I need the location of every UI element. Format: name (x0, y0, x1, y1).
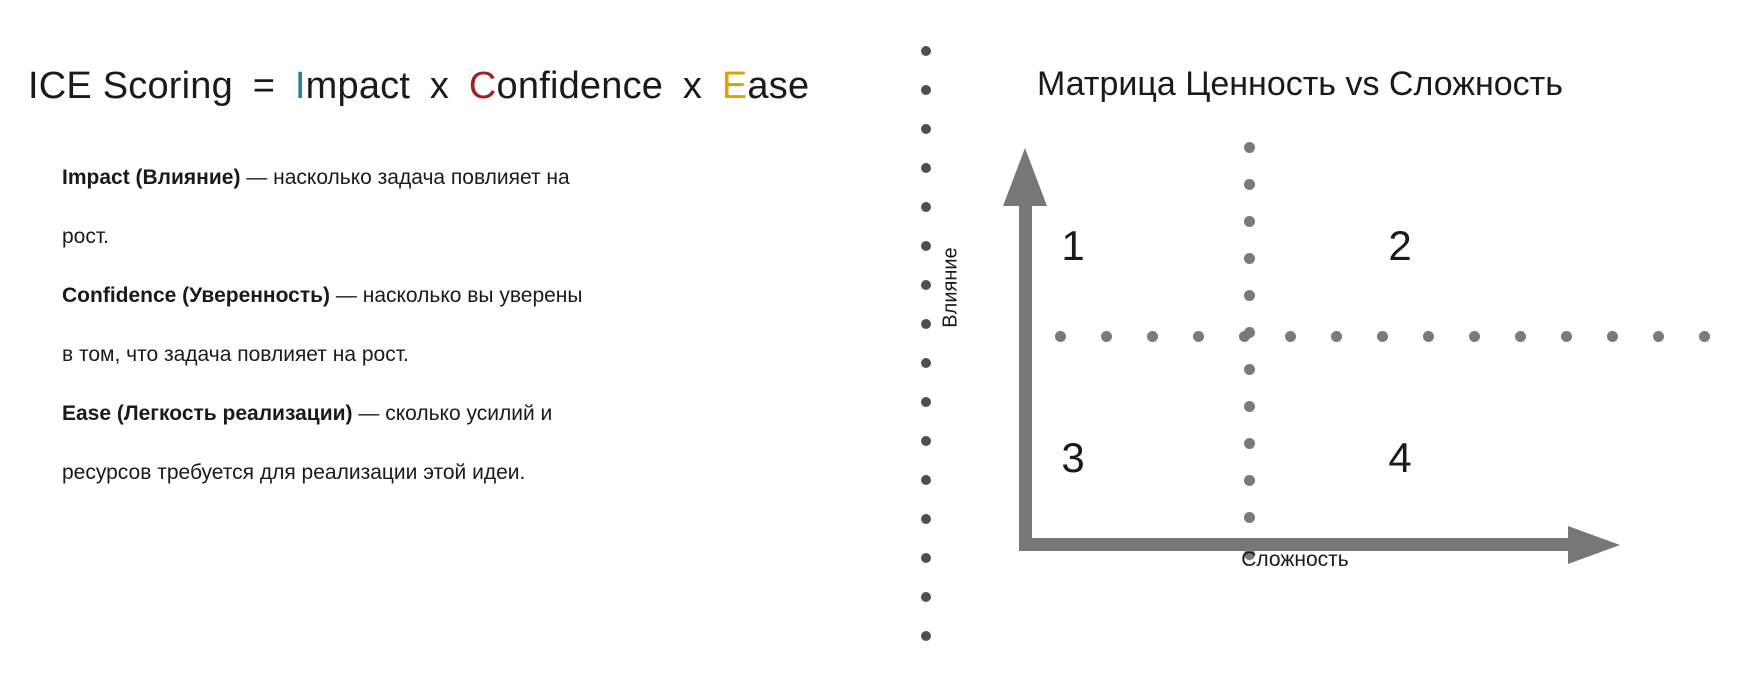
definition-impact-continuation: рост. (62, 207, 762, 266)
definition-confidence: Confidence (Уверенность) — насколько вы … (62, 266, 762, 325)
definition-ease-term: Ease (Легкость реализации) (62, 402, 353, 425)
definition-confidence-term: Confidence (Уверенность) (62, 284, 330, 307)
quadrant-divider-dot (1285, 331, 1296, 342)
definition-impact-dash: — (240, 166, 273, 189)
quadrant-divider-dot (1469, 331, 1480, 342)
quadrant-divider-dot (1193, 331, 1204, 342)
quadrant-divider-dot (1244, 364, 1255, 375)
definition-ease-dash: — (353, 402, 386, 425)
value-vs-complexity-matrix-panel: Матрица Ценность vs Сложность Влияние Сл… (900, 0, 1740, 677)
quadrant-divider-dot (1147, 331, 1158, 342)
x-axis-arrow-icon (1568, 526, 1620, 564)
quadrant-divider-dot (1244, 401, 1255, 412)
quadrant-divider-dot (1244, 438, 1255, 449)
definitions-list: Impact (Влияние) — насколько задача повл… (62, 148, 762, 502)
quadrant-divider-dot (1244, 512, 1255, 523)
formula-times-2: x (683, 65, 702, 107)
confidence-rest: onfidence (497, 65, 664, 107)
definition-confidence-dash: — (330, 284, 363, 307)
quadrant-divider-dot (1423, 331, 1434, 342)
quadrant-divider-dot (1561, 331, 1572, 342)
quadrant-label-1: 1 (1043, 225, 1103, 267)
quadrant-divider-dot (1244, 179, 1255, 190)
quadrant-divider-dot (1607, 331, 1618, 342)
definition-ease-text: сколько усилий и (385, 402, 552, 425)
formula-prefix: ICE Scoring (28, 65, 233, 107)
quadrant-divider-dot (1244, 475, 1255, 486)
quadrant-divider-dot (1244, 253, 1255, 264)
slide-canvas: ICE Scoring = Impact x Confidence x Ease… (0, 0, 1740, 677)
quadrant-divider-dot (1377, 331, 1388, 342)
matrix-plot-area: Влияние Сложность 1 2 3 4 (900, 0, 1740, 677)
definition-ease: Ease (Легкость реализации) — сколько уси… (62, 384, 762, 443)
definition-impact-term: Impact (Влияние) (62, 166, 240, 189)
ice-scoring-panel: ICE Scoring = Impact x Confidence x Ease… (0, 0, 900, 677)
quadrant-label-3: 3 (1043, 437, 1103, 479)
quadrant-label-4: 4 (1370, 437, 1430, 479)
ease-rest: ase (747, 65, 809, 107)
definition-impact-text: насколько задача повлияет на (273, 166, 570, 189)
y-axis-line (1019, 205, 1032, 551)
definition-confidence-continuation: в том, что задача повлияет на рост. (62, 325, 762, 384)
impact-initial: I (295, 65, 306, 107)
ice-formula-heading: ICE Scoring = Impact x Confidence x Ease (28, 62, 809, 110)
formula-equals: = (253, 65, 275, 107)
definition-impact: Impact (Влияние) — насколько задача повл… (62, 148, 762, 207)
quadrant-divider-dot (1515, 331, 1526, 342)
formula-times-1: x (430, 65, 449, 107)
quadrant-divider-dot (1244, 142, 1255, 153)
y-axis-label: Влияние (940, 223, 963, 353)
quadrant-divider-dot (1699, 331, 1710, 342)
confidence-initial: C (469, 65, 497, 107)
y-axis-arrow-icon (1003, 148, 1047, 206)
quadrant-divider-dot (1055, 331, 1066, 342)
ease-initial: E (722, 65, 748, 107)
quadrant-divider-dot (1239, 331, 1250, 342)
impact-rest: mpact (306, 65, 410, 107)
quadrant-divider-dot (1331, 331, 1342, 342)
quadrant-divider-dot (1653, 331, 1664, 342)
definition-confidence-text: насколько вы уверены (363, 284, 583, 307)
definition-ease-continuation: ресурсов требуется для реализации этой и… (62, 443, 762, 502)
x-axis-label: Сложность (1100, 548, 1490, 572)
quadrant-label-2: 2 (1370, 225, 1430, 267)
quadrant-divider-dot (1101, 331, 1112, 342)
quadrant-divider-dot (1244, 216, 1255, 227)
quadrant-divider-dot (1244, 290, 1255, 301)
